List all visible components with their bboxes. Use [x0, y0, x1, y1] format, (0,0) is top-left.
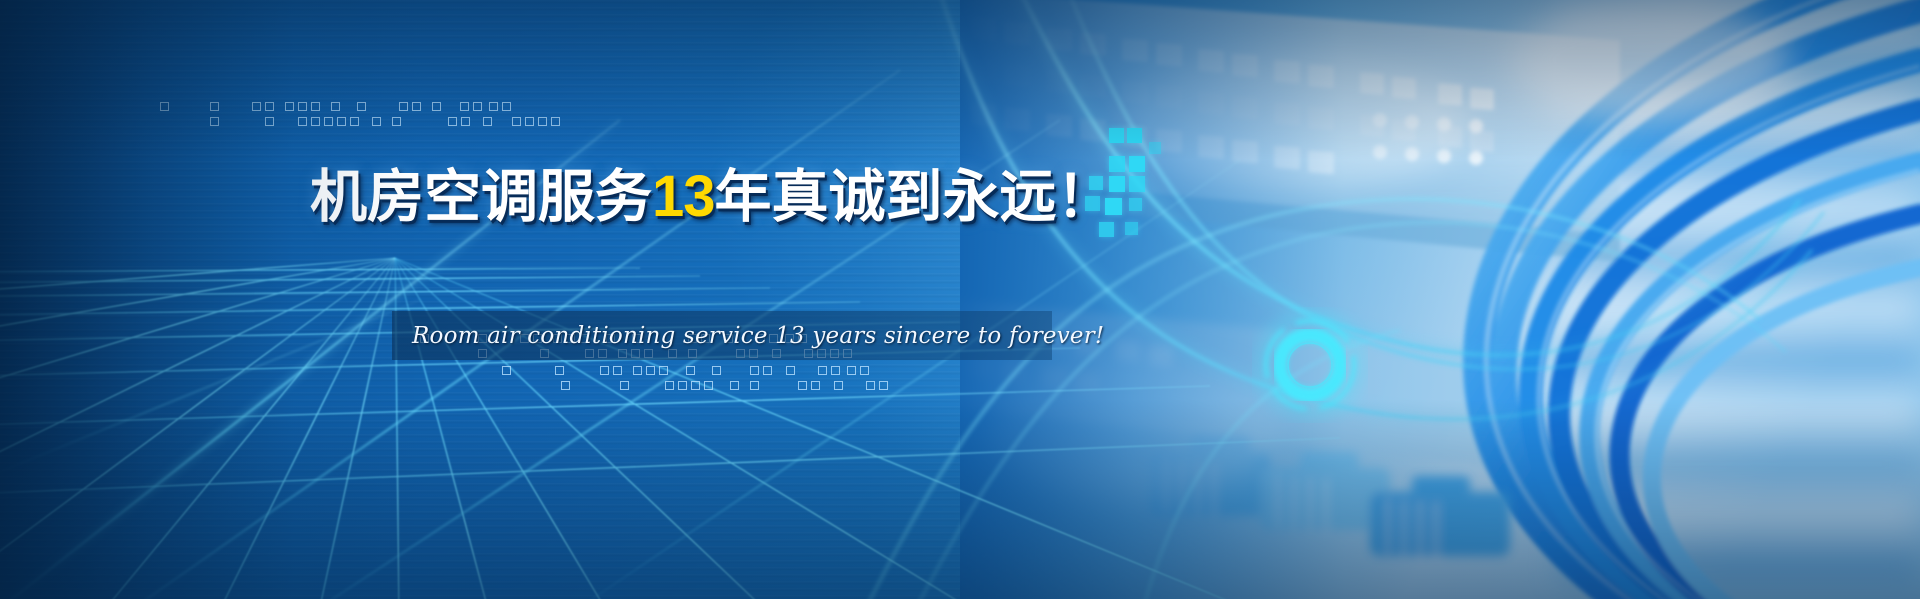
headline-exclamation: ！	[1057, 165, 1114, 229]
headline: 机房空调服务13年真诚到永远！	[310, 168, 1114, 226]
top-vignette	[0, 0, 1920, 160]
subtitle: Room air conditioning service 13 years s…	[412, 320, 1042, 352]
headline-part2: 年真诚到永远	[715, 164, 1057, 230]
headline-highlight-years: 13	[652, 164, 715, 229]
bottom-vignette	[0, 399, 1920, 599]
promo-banner: 机房空调服务13年真诚到永远！ Room air conditioning se…	[0, 0, 1920, 599]
